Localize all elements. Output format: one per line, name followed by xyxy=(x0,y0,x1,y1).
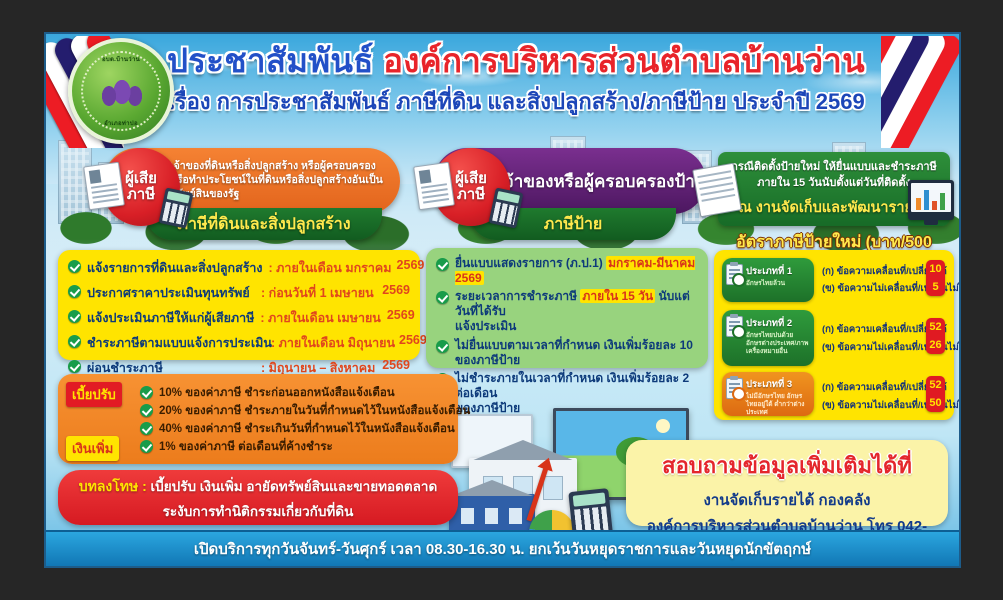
penalty-extra-tag: เงินเพิ่ม xyxy=(66,436,119,461)
law-penalty-bar: บทลงโทษ : เบี้ยปรับ เงินเพิ่ม อายัดทรัพย… xyxy=(58,470,458,525)
rate-type-3-title: ประเภทที่ 3 xyxy=(746,377,814,392)
sign-rate-table: ประเภทที่ 1 อักษรไทยล้วน (ก) ข้อความเคลื… xyxy=(714,250,954,420)
poster-stage: อบต.บ้านว่าน อำเภอท่าบ่อ ประชาสัมพันธ์ อ… xyxy=(0,0,1003,600)
schedule-label: ประกาศราคาประเมินทุนทรัพย์ xyxy=(87,283,255,303)
document-icon xyxy=(83,162,125,211)
rate-type-1-chip: ประเภทที่ 1 อักษรไทยล้วน xyxy=(722,258,814,302)
notice-document-icon xyxy=(692,163,742,218)
penalty-fine-tag: เบี้ยปรับ xyxy=(66,382,122,407)
check-icon xyxy=(436,291,449,304)
schedule-label: แจ้งรายการที่ดินและสิ่งปลูกสร้าง xyxy=(87,258,263,278)
check-icon xyxy=(436,340,449,353)
check-icon xyxy=(140,422,153,435)
sign-tax-banner: เจ้าของหรือผู้ครอบครองป้าย ผู้เสีย ภาษี … xyxy=(394,146,724,242)
document-icon xyxy=(413,162,455,211)
penalty-line: 20% ของค่าภาษี ชำระภายในวันที่กำหนดไว้ใน… xyxy=(159,402,470,420)
poster: อบต.บ้านว่าน อำเภอท่าบ่อ ประชาสัมพันธ์ อ… xyxy=(46,34,959,566)
rate-type-1-value-b: 5 xyxy=(926,278,945,296)
land-taxpayer-badge-line1: ผู้เสีย xyxy=(125,171,157,187)
check-icon xyxy=(140,386,153,399)
penalty-line: 40% ของค่าภาษี ชำระเกินวันที่กำหนดไว้ในห… xyxy=(159,420,455,438)
sign-taxpayer-badge-line2: ภาษี xyxy=(457,187,485,203)
law-tag: บทลงโทษ : xyxy=(79,478,147,494)
sign-rule-text: ยื่นแบบแสดงรายการ (ภ.ป.1) มกราคม-มีนาคม … xyxy=(455,256,698,286)
check-icon xyxy=(140,404,153,417)
new-sign-notice: กรณีติดตั้งป้ายใหม่ ให้ยื่นแบบและชำระภาษ… xyxy=(718,152,950,226)
penalty-row: 40% ของค่าภาษี ชำระเกินวันที่กำหนดไว้ในห… xyxy=(140,420,455,438)
law-text2: ระงับการทำนิติกรรมเกี่ยวกับที่ดิน xyxy=(58,500,458,522)
contact-box[interactable]: สอบถามข้อมูลเพิ่มเติมได้ที่ งานจัดเก็บรา… xyxy=(626,440,948,526)
check-icon xyxy=(140,440,153,453)
emblem-glyph xyxy=(98,74,144,108)
rate-type-2-title: ประเภทที่ 2 xyxy=(746,316,814,331)
contact-line1: งานจัดเก็บรายได้ กองคลัง xyxy=(626,488,948,512)
penalty-line: 10% ของค่าภาษี ชำระก่อนออกหนังสือแจ้งเตื… xyxy=(159,384,395,402)
rate-type-2-chip: ประเภทที่ 2 อักษรไทยปนด้วย อักษรต่างประเ… xyxy=(722,310,814,366)
service-hours-footer: เปิดบริการทุกวันจันทร์-วันศุกร์ เวลา 08.… xyxy=(46,530,959,566)
schedule-year: 2569 xyxy=(382,358,410,372)
check-icon xyxy=(436,258,449,271)
law-text1: เบี้ยปรับ เงินเพิ่ม อายัดทรัพย์สินและขาย… xyxy=(147,479,437,494)
schedule-row: ประกาศราคาประเมินทุนทรัพย์ : ก่อนวันที่ … xyxy=(68,283,410,303)
land-tax-schedule-card: แจ้งรายการที่ดินและสิ่งปลูกสร้าง : ภายใน… xyxy=(58,250,420,360)
rate-type-2-subtitle: อักษรไทยปนด้วย อักษรต่างประเทศ/ภาพ เครื่… xyxy=(746,332,810,356)
penalty-row: 1% ของค่าภาษี ต่อเดือนที่ค้างชำระ xyxy=(140,438,333,456)
schedule-value: : ภายในเดือน เมษายน xyxy=(260,308,380,328)
sign-rule-row: ยื่นแบบแสดงรายการ (ภ.ป.1) มกราคม-มีนาคม … xyxy=(436,256,698,286)
rate-type-2-value-a: 52 xyxy=(926,318,945,336)
contact-heading: สอบถามข้อมูลเพิ่มเติมได้ที่ xyxy=(626,448,948,483)
title-part1: ประชาสัมพันธ์ xyxy=(167,42,374,79)
schedule-value: : ก่อนวันที่ 1 เมษายน xyxy=(261,283,376,303)
title-part2: องค์การบริหารส่วนตำบลบ้านว่าน xyxy=(383,42,865,79)
sign-tax-description: เจ้าของหรือผู้ครอบครองป้าย xyxy=(498,168,705,195)
sign-rule-row: ไม่ชำระภายในเวลาที่กำหนด เงินเพิ่มร้อยละ… xyxy=(436,371,698,401)
check-icon xyxy=(68,260,81,273)
schedule-year: 2569 xyxy=(399,333,427,347)
page-title: ประชาสัมพันธ์ องค์การบริหารส่วนตำบลบ้านว… xyxy=(166,44,866,78)
sign-rule-row: ไม่ยื่นแบบตามเวลาที่กำหนด เงินเพิ่มร้อยล… xyxy=(436,338,698,368)
check-icon xyxy=(68,360,81,373)
sign-tax-rules-card: ยื่นแบบแสดงรายการ (ภ.ป.1) มกราคม-มีนาคม … xyxy=(426,248,708,368)
emblem-bottom-text: อำเภอท่าบ่อ xyxy=(72,118,170,128)
rate-type-1-title: ประเภทที่ 1 xyxy=(746,264,814,279)
clipboard-icon xyxy=(726,316,743,337)
schedule-label: ชำระภาษีตามแบบแจ้งการประเมิน xyxy=(87,333,265,353)
check-icon xyxy=(68,310,81,323)
rate-type-1-value-a: 10 xyxy=(926,260,945,278)
sign-taxpayer-badge-line1: ผู้เสีย xyxy=(455,171,487,187)
land-taxpayer-badge-line2: ภาษี xyxy=(127,187,155,203)
sign-rule-highlight: ภายใน 15 วัน xyxy=(580,289,655,303)
clipboard-icon xyxy=(726,264,743,285)
law-line1: บทลงโทษ : เบี้ยปรับ เงินเพิ่ม อายัดทรัพย… xyxy=(58,475,458,498)
land-tax-description: เจ้าของที่ดินหรือสิ่งปลูกสร้าง หรือผู้คร… xyxy=(170,160,383,202)
sign-rule-text: ระยะเวลาการชำระภาษี ภายใน 15 วัน นับแต่ว… xyxy=(455,289,698,319)
schedule-value: : ภายในเดือน มกราคม xyxy=(269,258,391,278)
schedule-year: 2569 xyxy=(382,283,410,297)
sign-rule-text: ไม่ยื่นแบบตามเวลาที่กำหนด เงินเพิ่มร้อยล… xyxy=(455,338,698,368)
poster-header: อบต.บ้านว่าน อำเภอท่าบ่อ ประชาสัมพันธ์ อ… xyxy=(46,36,959,146)
sign-rule-text: ไม่ชำระภายในเวลาที่กำหนด เงินเพิ่มร้อยละ… xyxy=(455,371,698,401)
monitor-chart-icon xyxy=(908,180,954,220)
clipboard-icon xyxy=(726,378,743,399)
notice-line1: กรณีติดตั้งป้ายใหม่ ให้ยื่นแบบและชำระภาษ… xyxy=(718,160,950,176)
check-icon xyxy=(68,335,81,348)
check-icon xyxy=(68,285,81,298)
penalty-line: 1% ของค่าภาษี ต่อเดือนที่ค้างชำระ xyxy=(159,438,333,456)
schedule-row: แจ้งประเมินภาษีให้แก่ผู้เสียภาษี : ภายใน… xyxy=(68,308,410,328)
rate-type-1-subtitle: อักษรไทยล้วน xyxy=(746,280,814,288)
penalty-panel: เบี้ยปรับ เงินเพิ่ม 10% ของค่าภาษี ชำระก… xyxy=(58,374,458,464)
organization-emblem: อบต.บ้านว่าน อำเภอท่าบ่อ xyxy=(68,38,174,144)
rate-type-1-values: 10 5 xyxy=(926,260,945,296)
schedule-label: แจ้งประเมินภาษีให้แก่ผู้เสียภาษี xyxy=(87,308,254,328)
rate-type-3-subtitle: ไม่มีอักษรไทย อักษรไทยอยู่ใต้ ต่ำกว่าต่า… xyxy=(746,393,810,416)
rate-type-3-value-b: 50 xyxy=(926,394,945,412)
penalty-row: 10% ของค่าภาษี ชำระก่อนออกหนังสือแจ้งเตื… xyxy=(140,384,395,402)
schedule-value: : ภายในเดือน มิถุนายน xyxy=(271,333,393,353)
rate-type-2-value-b: 26 xyxy=(926,336,945,354)
rate-type-3-values: 52 50 xyxy=(926,376,945,412)
penalty-row: 20% ของค่าภาษี ชำระภายในวันที่กำหนดไว้ใน… xyxy=(140,402,470,420)
sign-rule-row: ระยะเวลาการชำระภาษี ภายใน 15 วัน นับแต่ว… xyxy=(436,289,698,319)
rate-type-2-values: 52 26 xyxy=(926,318,945,354)
thai-flag-ribbon-right xyxy=(881,36,959,148)
schedule-year: 2569 xyxy=(387,308,415,322)
emblem-top-text: อบต.บ้านว่าน xyxy=(72,54,170,64)
rate-type-3-value-a: 52 xyxy=(926,376,945,394)
land-tax-banner: เจ้าของที่ดินหรือสิ่งปลูกสร้าง หรือผู้คร… xyxy=(64,146,404,242)
sign-rule-continuation: แจ้งประเมิน xyxy=(455,319,698,334)
page-subtitle: เรื่อง การประชาสัมพันธ์ ภาษีที่ดิน และสิ… xyxy=(166,84,866,119)
schedule-year: 2569 xyxy=(397,258,425,272)
schedule-row: ชำระภาษีตามแบบแจ้งการประเมิน : ภายในเดือ… xyxy=(68,333,410,353)
schedule-row: แจ้งรายการที่ดินและสิ่งปลูกสร้าง : ภายใน… xyxy=(68,258,410,278)
